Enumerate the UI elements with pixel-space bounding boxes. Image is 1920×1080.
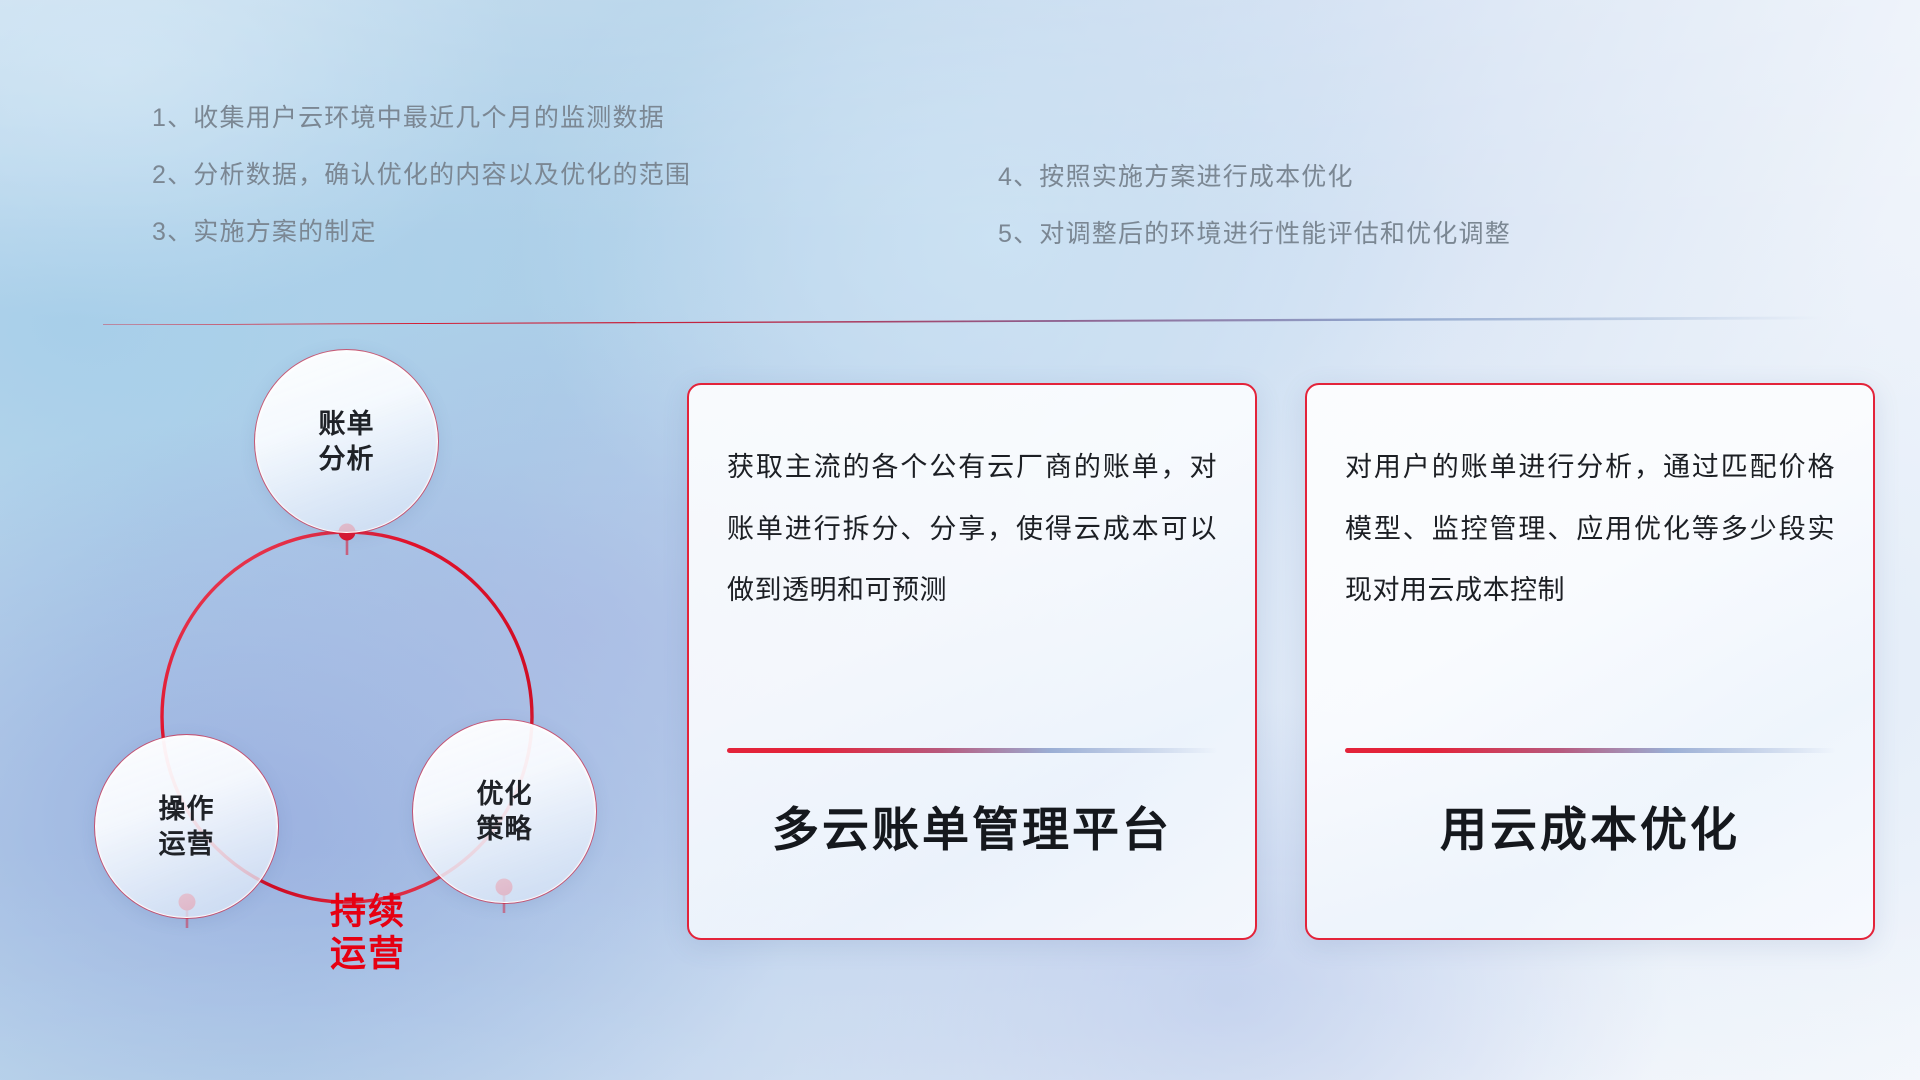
feature-card-cloud-cost-optimization[interactable]: 对用户的账单进行分析，通过匹配价格模型、监控管理、应用优化等多少段实现对用云成本…	[1305, 383, 1875, 940]
venn-node-label-line2: 策略	[477, 814, 533, 844]
venn-node-label: 操作 运营	[159, 792, 215, 861]
venn-node-operations[interactable]: 操作 运营	[95, 735, 278, 918]
venn-node-label-line1: 优化	[477, 779, 533, 809]
venn-diagram: 账单 分析 操作 运营 优化 策略 持续 运营	[95, 350, 640, 955]
venn-node-label-line1: 账单	[319, 409, 375, 439]
section-divider	[103, 316, 1823, 325]
feature-card-rule	[1345, 748, 1835, 753]
steps-list-left: 1、收集用户云环境中最近几个月的监测数据 2、分析数据，确认优化的内容以及优化的…	[152, 98, 691, 269]
venn-node-bill-analysis[interactable]: 账单 分析	[255, 350, 438, 533]
feature-card-rule	[727, 748, 1217, 753]
venn-node-label: 账单 分析	[319, 407, 375, 476]
feature-card-title: 用云成本优化	[1307, 791, 1873, 860]
steps-list-right: 4、按照实施方案进行成本优化 5、对调整后的环境进行性能评估和优化调整	[998, 157, 1511, 271]
step-item: 2、分析数据，确认优化的内容以及优化的范围	[152, 155, 691, 191]
step-item: 3、实施方案的制定	[152, 212, 691, 248]
venn-node-optimization-strategy[interactable]: 优化 策略	[413, 720, 596, 903]
step-item: 4、按照实施方案进行成本优化	[998, 157, 1511, 193]
venn-center-label: 持续 运营	[330, 891, 406, 976]
venn-node-label-line2: 运营	[159, 829, 215, 859]
step-item: 5、对调整后的环境进行性能评估和优化调整	[998, 214, 1511, 250]
venn-node-label-line1: 操作	[159, 794, 215, 824]
feature-card-body: 获取主流的各个公有云厂商的账单，对账单进行拆分、分享，使得云成本可以做到透明和可…	[727, 437, 1217, 622]
venn-node-label: 优化 策略	[477, 777, 533, 846]
venn-center-label-line2: 运营	[330, 933, 406, 974]
feature-card-title: 多云账单管理平台	[689, 791, 1255, 860]
step-item: 1、收集用户云环境中最近几个月的监测数据	[152, 98, 691, 134]
feature-card-multicloud-billing[interactable]: 获取主流的各个公有云厂商的账单，对账单进行拆分、分享，使得云成本可以做到透明和可…	[687, 383, 1257, 940]
feature-card-body: 对用户的账单进行分析，通过匹配价格模型、监控管理、应用优化等多少段实现对用云成本…	[1345, 437, 1835, 622]
venn-center-label-line1: 持续	[330, 891, 406, 932]
venn-node-label-line2: 分析	[319, 444, 375, 474]
